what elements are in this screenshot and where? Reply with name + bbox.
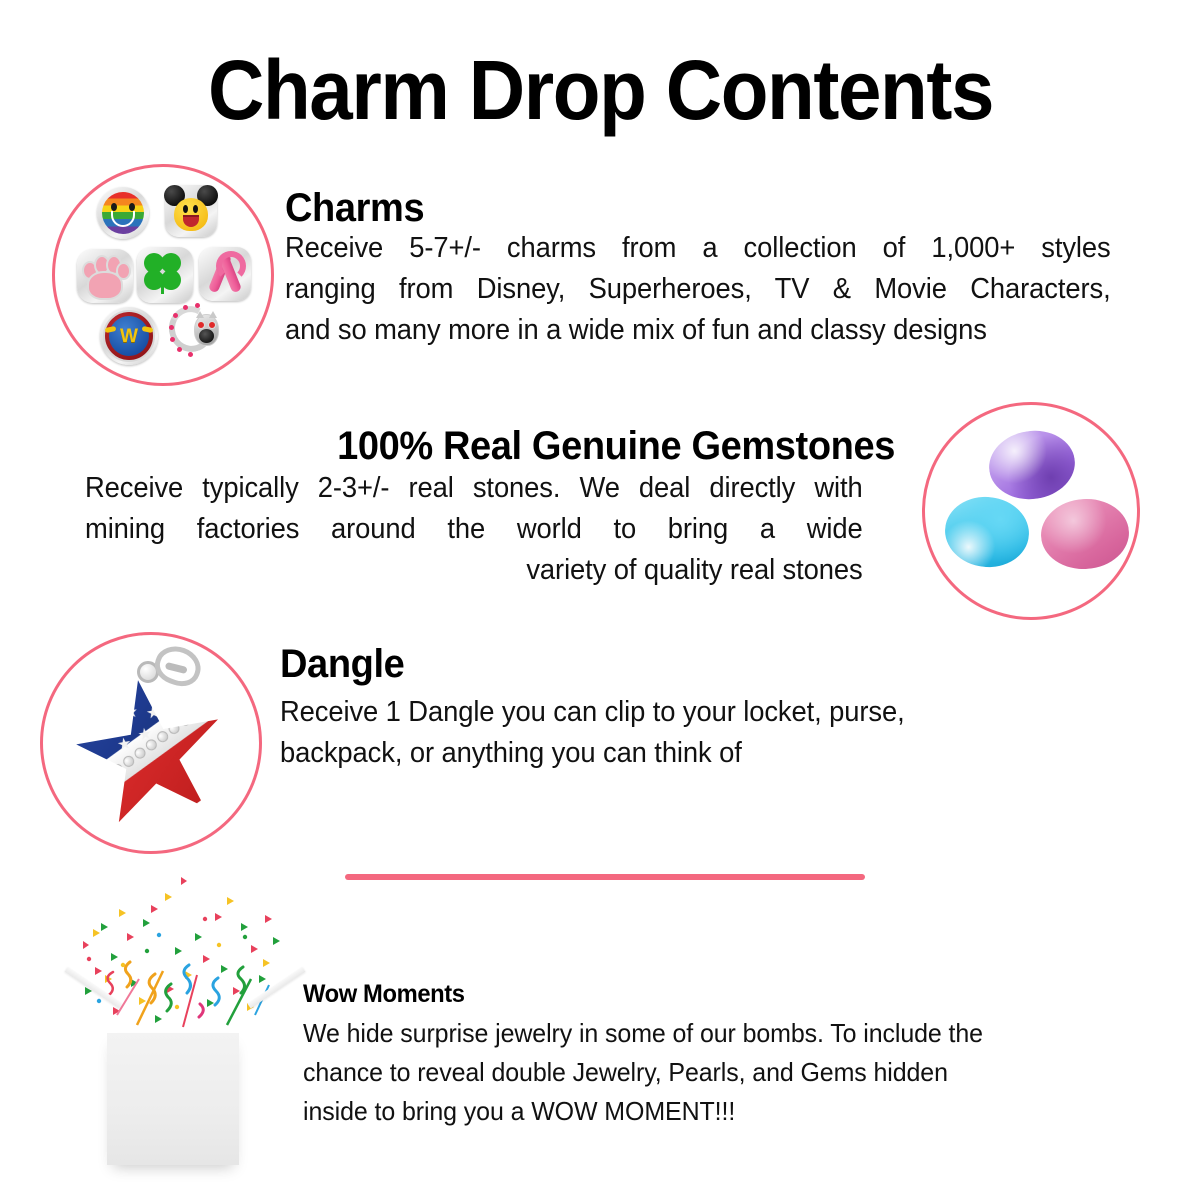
mickey-mouse-charm xyxy=(165,185,217,237)
blue-topaz-gem xyxy=(942,493,1033,571)
dangle-body-line-2: backpack, or anything you can think of xyxy=(280,733,1010,774)
mouth-icon xyxy=(183,215,199,227)
moon-gem-icon xyxy=(169,325,174,330)
dangle-heading: Dangle xyxy=(280,640,404,688)
crystal-icon xyxy=(200,696,215,711)
moon-gem-icon xyxy=(173,313,178,318)
mickey-face-icon xyxy=(174,198,208,231)
infographic-page: Charm Drop Contents xyxy=(0,0,1201,1201)
moon-gem-icon xyxy=(183,305,188,310)
crystal-icon xyxy=(98,770,113,785)
gemstones-heading: 100% Real Genuine Gemstones xyxy=(278,422,896,470)
confetti-box-image xyxy=(55,875,315,1175)
dangle-circle-image xyxy=(40,632,262,854)
owl-belly-icon xyxy=(199,329,214,343)
flag-star-icon xyxy=(104,718,119,733)
ww-emblem-icon: W xyxy=(100,307,158,365)
gemstones-body-line-1: Receive typically 2-3+/- real stones. We… xyxy=(85,468,863,509)
charms-body: Receive 5-7+/- charms from a collection … xyxy=(285,228,1111,351)
wow-moments-body-line-2: chance to reveal double Jewelry, Pearls,… xyxy=(303,1053,1071,1092)
moon-gem-icon xyxy=(177,347,182,352)
flag-red-stripe xyxy=(75,686,238,841)
wow-moments-body-line-3: inside to bring you a WOW MOMENT!!! xyxy=(303,1092,1071,1131)
pink-tourmaline-gem xyxy=(1039,496,1132,572)
owl-moon-charm xyxy=(167,303,223,361)
box-front-face xyxy=(107,1033,239,1165)
gemstones-body-line-2: mining factories around the world to bri… xyxy=(85,509,863,550)
charms-body-line-1: Receive 5-7+/- charms from a collection … xyxy=(285,228,1111,269)
owl-icon xyxy=(194,314,219,346)
gemstones-circle-image xyxy=(922,402,1140,620)
eye-right-icon xyxy=(193,205,198,213)
lobster-clasp xyxy=(150,640,206,691)
moon-gem-icon xyxy=(188,352,193,357)
clover-stem-icon xyxy=(161,280,164,294)
wow-moments-heading: Wow Moments xyxy=(303,978,465,1010)
dangle-artwork xyxy=(43,635,265,857)
crystal-icon xyxy=(189,704,204,719)
four-leaf-clover-charm xyxy=(137,247,193,303)
smile-icon xyxy=(111,211,135,227)
owl-tuft-left-icon xyxy=(196,311,204,318)
eye-left-icon xyxy=(183,205,188,213)
dangle-body: Receive 1 Dangle you can clip to your lo… xyxy=(280,692,1010,774)
owl-tuft-right-icon xyxy=(209,311,217,318)
american-flag-star-dangle xyxy=(64,667,238,841)
owl-eye-right-icon xyxy=(208,321,216,329)
moon-gem-icon xyxy=(195,303,200,308)
section-divider xyxy=(345,874,865,880)
dangle-body-line-1: Receive 1 Dangle you can clip to your lo… xyxy=(280,692,1010,733)
charms-body-line-2: ranging from Disney, Superheroes, TV & M… xyxy=(285,269,1111,310)
crystal-icon xyxy=(76,786,91,801)
moon-gem-icon xyxy=(170,337,175,342)
eye-right-icon xyxy=(129,203,135,211)
rainbow-face xyxy=(102,192,144,234)
eye-left-icon xyxy=(111,203,117,211)
paw-print-charm xyxy=(77,249,133,303)
crystal-icon xyxy=(87,778,102,793)
wow-moments-body-line-1: We hide surprise jewelry in some of our … xyxy=(303,1014,1071,1053)
page-title: Charm Drop Contents xyxy=(42,42,1159,138)
pink-ribbon-charm xyxy=(199,247,251,301)
ribbon-loop-icon xyxy=(216,251,246,281)
rainbow-smiley-charm xyxy=(97,187,149,239)
paw-main-pad-icon xyxy=(87,271,123,300)
gemstones-body: Receive typically 2-3+/- real stones. We… xyxy=(85,468,863,591)
charms-body-line-3: and so many more in a wide mix of fun an… xyxy=(285,310,1111,351)
charms-circle-image: W xyxy=(52,164,274,386)
charms-heading: Charms xyxy=(285,184,424,232)
gemstones-body-line-3: variety of quality real stones xyxy=(85,550,863,591)
wonder-woman-charm: W xyxy=(100,307,158,365)
owl-eye-left-icon xyxy=(197,321,205,329)
wow-moments-body: We hide surprise jewelry in some of our … xyxy=(303,1014,1071,1131)
amethyst-purple-gem xyxy=(985,425,1080,504)
